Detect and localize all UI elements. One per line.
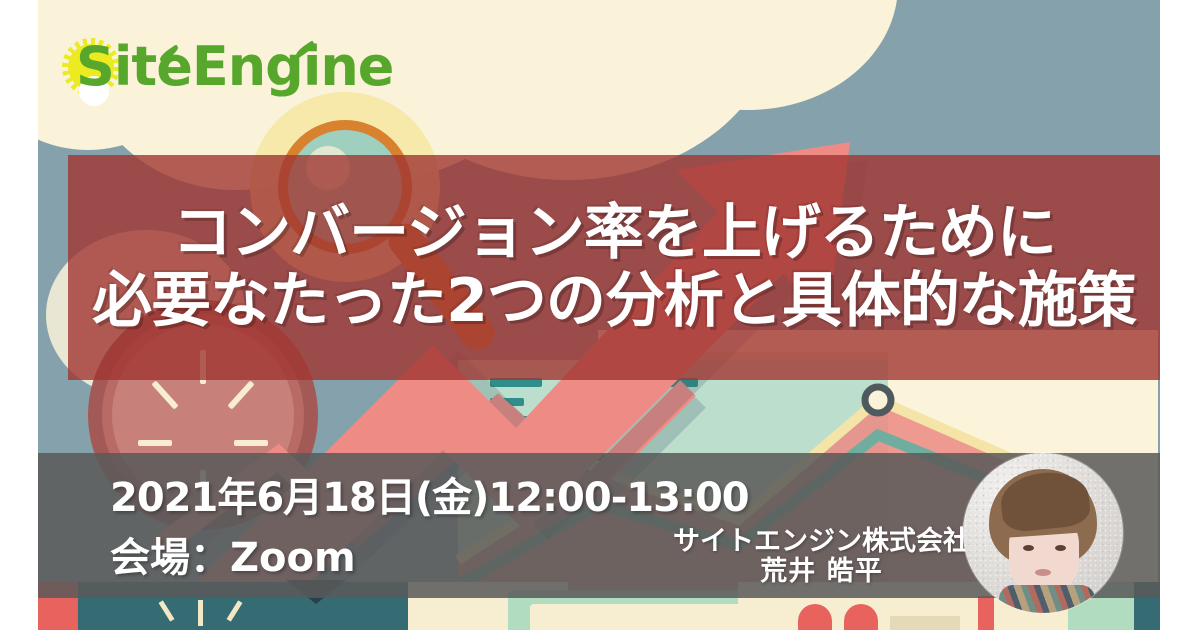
logo-wordmark: SiteEngine <box>76 40 393 94</box>
avatar <box>963 453 1123 613</box>
avatar-mouth <box>1035 569 1051 576</box>
title-banner: コンバージョン率を上げるために 必要なたった2つの分析と具体的な施策 <box>68 155 1160 380</box>
title-line-2: 必要なたった2つの分析と具体的な施策 <box>92 268 1136 335</box>
avatar-eye <box>1055 545 1066 551</box>
strip-spark <box>198 600 203 626</box>
strip-block <box>530 604 746 630</box>
speaker-company: サイトエンジン株式会社 <box>673 527 970 557</box>
speaker-name: 荒井 皓平 <box>673 557 970 587</box>
webinar-banner: SiteEngine コンバージョン率を上げるために 必要なたった2つの分析と具… <box>0 0 1200 630</box>
title-line-1: コンバージョン率を上げるために <box>172 200 1056 267</box>
strip-block <box>890 616 960 630</box>
strip-block <box>798 604 832 630</box>
event-datetime: 2021年6月18日(金)12:00-13:00 <box>110 465 749 523</box>
avatar-scarf <box>999 585 1095 613</box>
strip-block <box>844 604 878 630</box>
event-venue: 会場：Zoom <box>110 525 356 583</box>
siteengine-logo[interactable]: SiteEngine <box>62 36 393 98</box>
avatar-eye <box>1023 545 1034 551</box>
speaker-info: サイトエンジン株式会社 荒井 皓平 <box>673 527 970 587</box>
strip-block <box>978 596 994 630</box>
